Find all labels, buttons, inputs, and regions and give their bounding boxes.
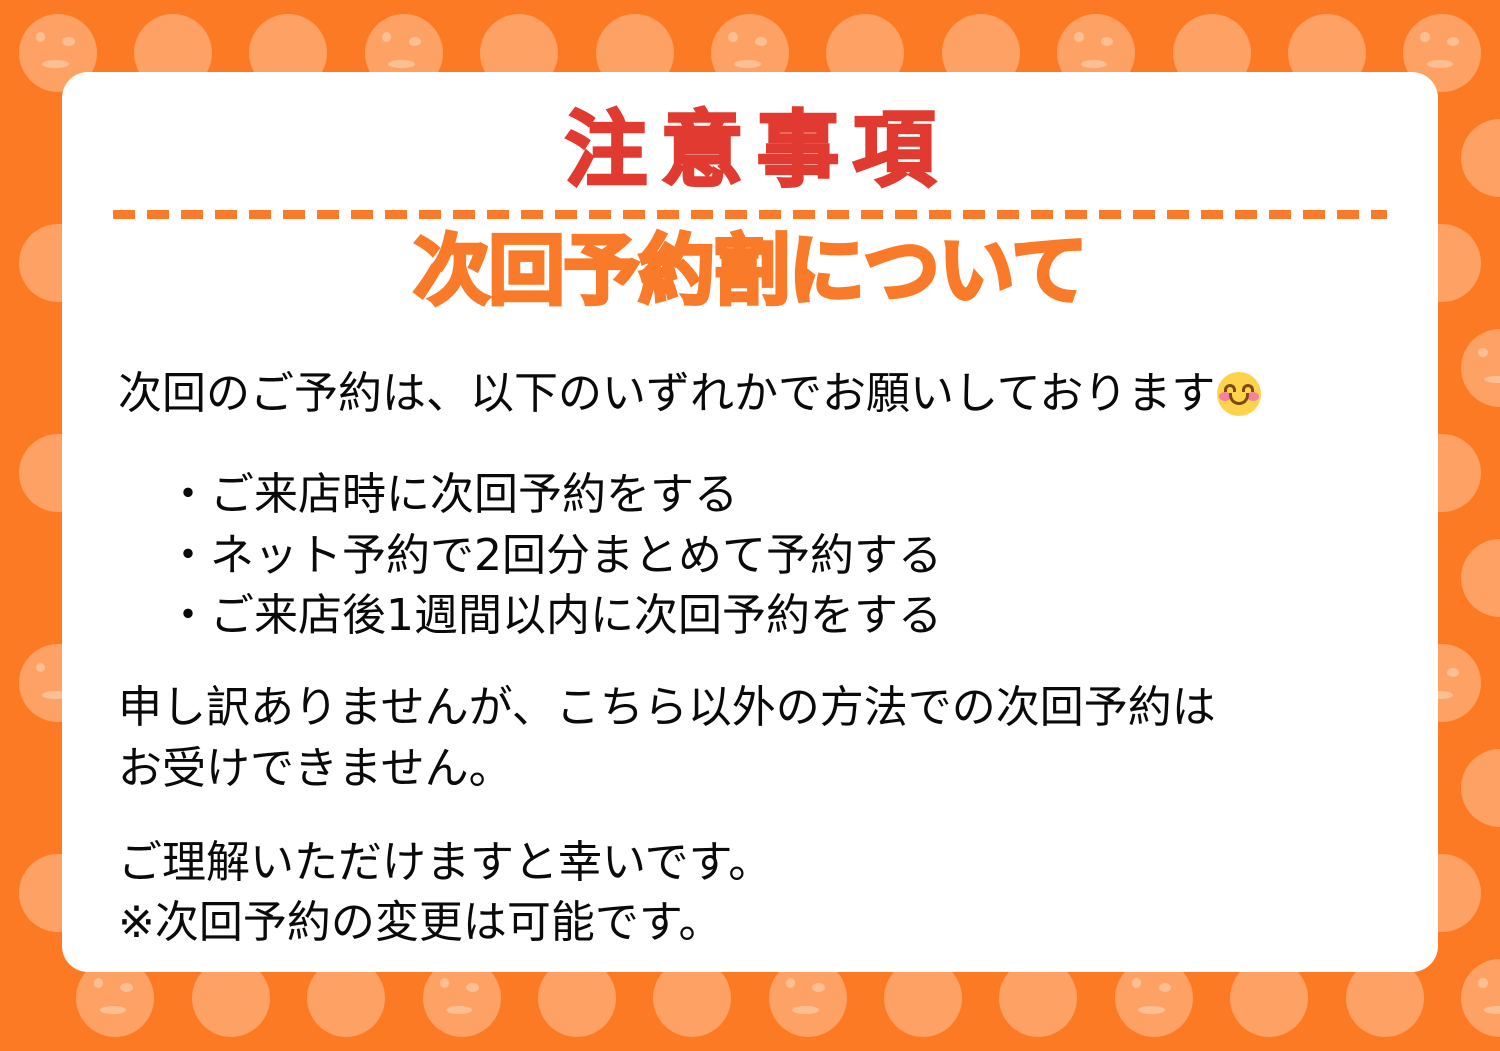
pattern-dot-mark: [388, 60, 415, 68]
pattern-dot-mark: [62, 37, 74, 46]
pattern-dot-mark: [734, 60, 761, 68]
pattern-dot-mark: [1081, 60, 1108, 68]
pattern-dot-mark: [1484, 1006, 1500, 1014]
pattern-dot-mark: [409, 37, 421, 46]
pattern-dot: [1461, 749, 1500, 827]
pattern-dot-mark: [100, 1006, 127, 1014]
pattern-dot-mark: [1478, 978, 1487, 987]
pattern-dot-mark: [42, 60, 69, 68]
emoji-eye-right: [1242, 384, 1254, 392]
pattern-dot-mark: [382, 32, 391, 41]
emoji-eye-left: [1224, 384, 1236, 392]
pattern-dot: [1461, 119, 1500, 197]
pattern-dot-mark: [36, 32, 45, 41]
pattern-dot: [1461, 539, 1500, 617]
poster: 注意事項 次回予約割について 次回のご予約は、以下のいずれかでお願いしております…: [0, 0, 1500, 1051]
pattern-dot-mark: [440, 978, 449, 987]
pattern-dot-mark: [120, 983, 132, 992]
lead-text: 次回のご予約は、以下のいずれかでお願いしております: [118, 366, 1215, 421]
closing-line-2: ※次回予約の変更は可能です。: [118, 893, 1394, 953]
pattern-dot-mark: [755, 37, 767, 46]
policy-line-2: お受けできません。: [118, 739, 1394, 799]
pattern-dot-mark: [1447, 37, 1459, 46]
pattern-dot-mark: [1138, 1006, 1165, 1014]
subtitle: 次回予約割について: [62, 227, 1438, 314]
reservation-methods-list: ・ご来店時に次回予約をする ・ネット予約で2回分まとめて予約する ・ご来店後1週…: [118, 465, 1394, 646]
list-item: ・ネット予約で2回分まとめて予約する: [166, 526, 1394, 586]
notice-body: 次回のご予約は、以下のいずれかでお願いしております ・ご来店時に次回予約をする …: [62, 314, 1438, 953]
policy-line-1: 申し訳ありませんが、こちら以外の方法での次回予約は: [118, 678, 1394, 738]
pattern-dot-mark: [1484, 376, 1500, 384]
list-item: ・ご来店後1週間以内に次回予約をする: [166, 586, 1394, 646]
pattern-dot-mark: [94, 978, 103, 987]
pattern-dot-mark: [812, 983, 824, 992]
pattern-dot-mark: [728, 32, 737, 41]
pattern-dot-mark: [1478, 348, 1487, 357]
pattern-dot-mark: [1132, 978, 1141, 987]
pattern-dot-mark: [1074, 32, 1083, 41]
pattern-dot-mark: [792, 1006, 819, 1014]
pattern-dot-mark: [1101, 37, 1113, 46]
emoji-mouth: [1229, 393, 1249, 405]
list-item: ・ご来店時に次回予約をする: [166, 465, 1394, 525]
pattern-dot-mark: [36, 663, 45, 672]
pattern-dot: [1461, 959, 1500, 1037]
pattern-dot-mark: [786, 978, 795, 987]
policy-paragraph: 申し訳ありませんが、こちら以外の方法での次回予約は お受けできません。: [118, 678, 1394, 799]
pattern-dot-mark: [446, 1006, 473, 1014]
lead-paragraph: 次回のご予約は、以下のいずれかでお願いしております: [118, 366, 1394, 421]
pattern-dot-mark: [1447, 668, 1459, 677]
pattern-dot-mark: [1427, 60, 1454, 68]
pattern-dot: [1461, 329, 1500, 407]
pattern-dot-mark: [466, 983, 478, 992]
page-title: 注意事項: [62, 72, 1438, 194]
pattern-dot-mark: [1420, 32, 1429, 41]
closing-line-1: ご理解いただけますと幸いです。: [118, 833, 1394, 893]
closing-paragraph: ご理解いただけますと幸いです。 ※次回予約の変更は可能です。: [118, 833, 1394, 954]
pattern-dot-mark: [1159, 983, 1171, 992]
dashed-divider: [113, 210, 1387, 219]
smiling-face-icon: [1217, 372, 1261, 416]
notice-card: 注意事項 次回予約割について 次回のご予約は、以下のいずれかでお願いしております…: [62, 72, 1438, 972]
emoji-cheek-right: [1247, 392, 1259, 401]
